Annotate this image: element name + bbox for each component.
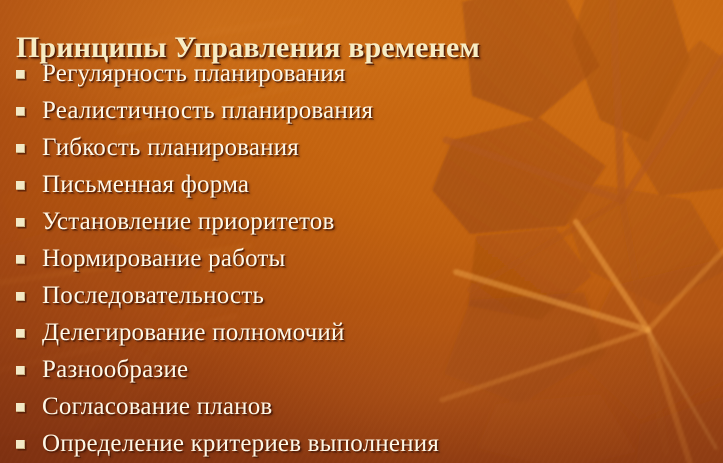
bullet-item: Определение критериев выполнения	[0, 425, 723, 462]
bullet-item: Разнообразие	[0, 351, 723, 388]
square-bullet-icon	[16, 366, 25, 375]
bullet-item-label: Гибкость планирования	[42, 135, 299, 160]
square-bullet-icon	[16, 403, 25, 412]
bullet-item: Последовательность	[0, 277, 723, 314]
bullet-item-label: Нормирование работы	[42, 246, 286, 271]
bullet-item: Реалистичность планирования	[0, 92, 723, 129]
bullet-item-label: Согласование планов	[42, 394, 272, 419]
bullet-item: Согласование планов	[0, 388, 723, 425]
bullet-item-label: Определение критериев выполнения	[42, 431, 439, 456]
bullet-item-label: Разнообразие	[42, 357, 188, 382]
square-bullet-icon	[16, 181, 25, 190]
square-bullet-icon	[16, 440, 25, 449]
bullet-item-label: Последовательность	[42, 283, 264, 308]
bullet-list: Регулярность планированияРеалистичность …	[0, 55, 723, 462]
bullet-item-label: Делегирование полномочий	[42, 320, 345, 345]
presentation-slide: Принципы Управления временем Регулярност…	[0, 0, 723, 463]
bullet-item-label: Регулярность планирования	[42, 61, 346, 86]
bullet-item: Гибкость планирования	[0, 129, 723, 166]
square-bullet-icon	[16, 255, 25, 264]
square-bullet-icon	[16, 107, 25, 116]
bullet-item: Делегирование полномочий	[0, 314, 723, 351]
square-bullet-icon	[16, 292, 25, 301]
bullet-item: Регулярность планирования	[0, 55, 723, 92]
bullet-item-label: Реалистичность планирования	[42, 98, 373, 123]
square-bullet-icon	[16, 218, 25, 227]
square-bullet-icon	[16, 70, 25, 79]
bullet-item: Письменная форма	[0, 166, 723, 203]
square-bullet-icon	[16, 144, 25, 153]
square-bullet-icon	[16, 329, 25, 338]
bullet-item-label: Письменная форма	[42, 172, 249, 197]
bullet-item: Нормирование работы	[0, 240, 723, 277]
bullet-item: Установление приоритетов	[0, 203, 723, 240]
bullet-item-label: Установление приоритетов	[42, 209, 335, 234]
